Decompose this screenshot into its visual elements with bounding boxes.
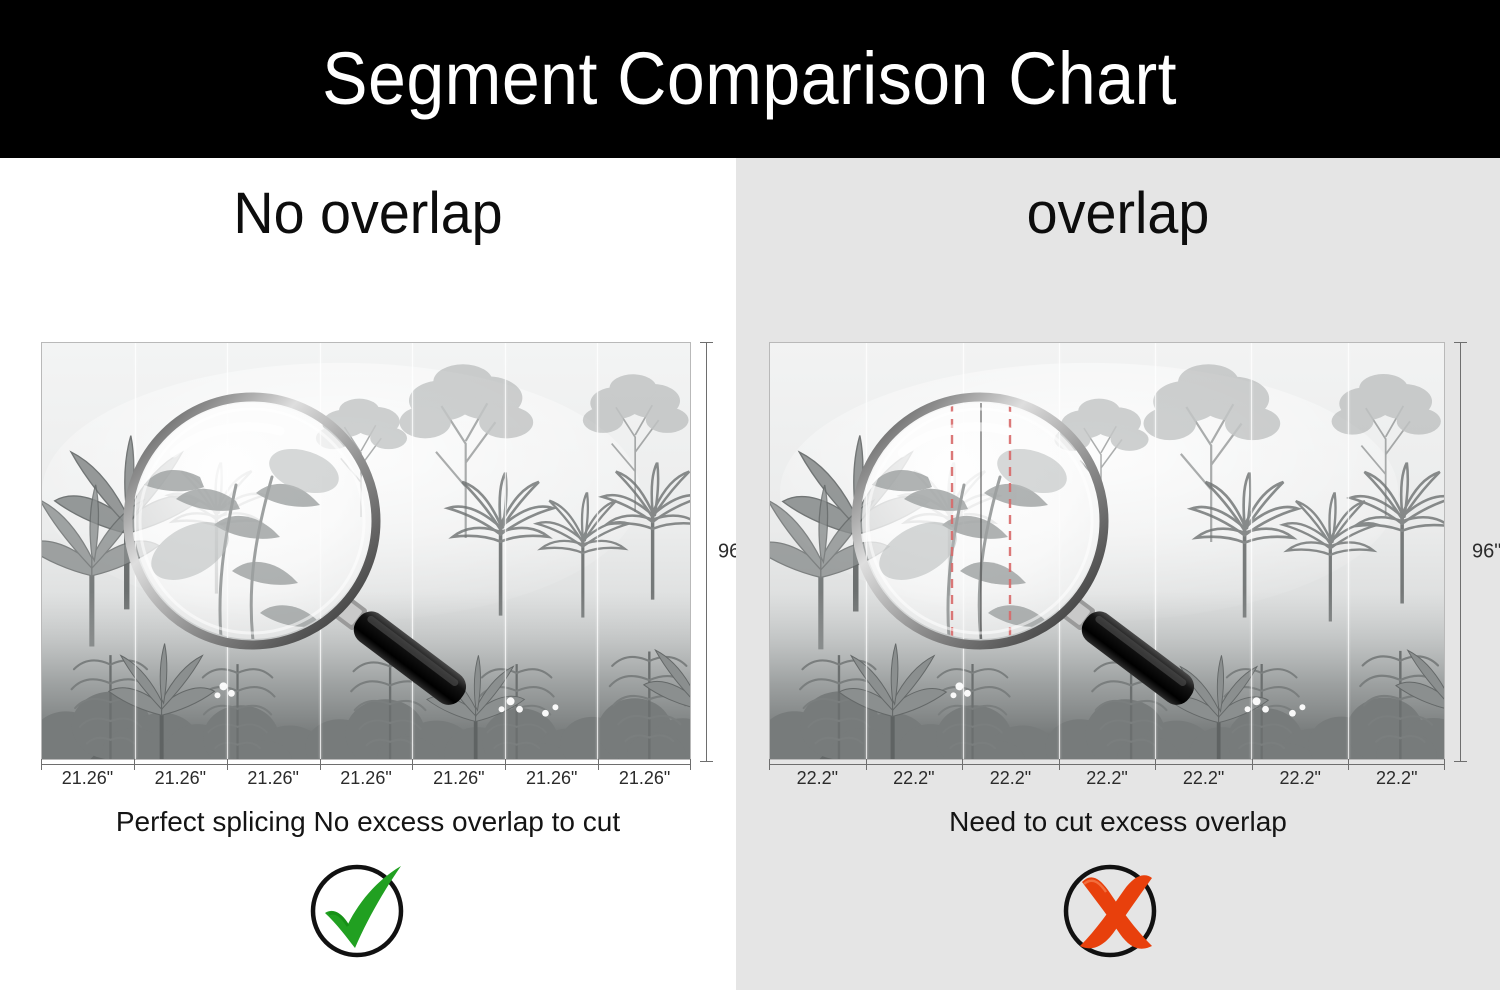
segment-width-label: 22.2"	[1059, 765, 1156, 791]
jungle-mural-illustration	[770, 343, 1444, 759]
segment-width-label: 21.26"	[412, 765, 505, 791]
verdict-no-overlap	[0, 858, 736, 962]
segment-width-label: 22.2"	[866, 765, 963, 791]
segment-width-label: 21.26"	[134, 765, 227, 791]
segment-width-label: 22.2"	[1155, 765, 1252, 791]
caption-overlap: Need to cut excess overlap	[736, 806, 1500, 838]
panel-no-overlap: No overlap	[0, 158, 736, 990]
panel-overlap: overlap	[736, 158, 1500, 990]
height-label: 96"	[1472, 541, 1500, 564]
mural-figure-overlap: 22.2" 22.2" 22.2" 22.2" 22.2" 22.2" 22.2…	[769, 342, 1445, 791]
height-dimension-overlap: 96"	[1454, 342, 1480, 762]
segment-width-label: 21.26"	[227, 765, 320, 791]
segment-width-label: 22.2"	[962, 765, 1059, 791]
mural-image-no-overlap	[41, 342, 691, 760]
segment-width-labels-no-overlap: 21.26" 21.26" 21.26" 21.26" 21.26" 21.26…	[41, 765, 691, 791]
comparison-panels: No overlap	[0, 158, 1500, 990]
title-bar: Segment Comparison Chart	[0, 0, 1500, 158]
cross-mark-icon	[1060, 858, 1168, 962]
segment-width-label: 21.26"	[598, 765, 691, 791]
verdict-overlap	[736, 858, 1500, 962]
mural-image-overlap	[769, 342, 1445, 760]
segment-width-label: 22.2"	[769, 765, 866, 791]
height-dimension-no-overlap: 96"	[700, 342, 726, 762]
jungle-mural-illustration	[42, 343, 690, 759]
mural-figure-no-overlap: 21.26" 21.26" 21.26" 21.26" 21.26" 21.26…	[41, 342, 691, 791]
page-title: Segment Comparison Chart	[323, 42, 1178, 116]
panel-heading-no-overlap: No overlap	[15, 180, 722, 247]
check-mark-icon	[305, 858, 413, 962]
segment-width-label: 21.26"	[41, 765, 134, 791]
segment-width-label: 21.26"	[320, 765, 413, 791]
segment-width-label: 21.26"	[505, 765, 598, 791]
segment-width-label: 22.2"	[1252, 765, 1349, 791]
segment-width-labels-overlap: 22.2" 22.2" 22.2" 22.2" 22.2" 22.2" 22.2…	[769, 765, 1445, 791]
panel-heading-overlap: overlap	[751, 180, 1484, 247]
segment-width-label: 22.2"	[1348, 765, 1445, 791]
caption-no-overlap: Perfect splicing No excess overlap to cu…	[0, 806, 736, 838]
